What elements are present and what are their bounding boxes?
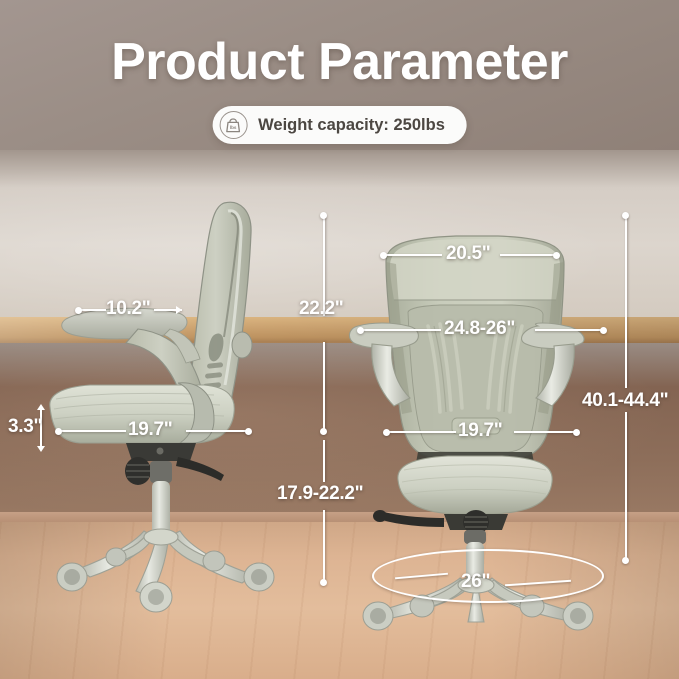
dim-overall-height-dot-bottom [622,557,629,564]
weight-capacity-label: Weight capacity: 250lbs [258,116,445,135]
dim-overall-height-line-upper [625,216,627,388]
svg-text:lbs: lbs [230,125,237,130]
left-chair-side-view [28,195,328,615]
dim-overall-height-line-lower [625,412,627,560]
dim-seat-height-line-lower [323,510,325,582]
dim-overall-height-label: 40.1-44.4" [582,390,668,412]
dim-backrest-height-label: 22.2" [299,298,344,320]
dim-armrest-depth-dot-left [75,307,82,314]
dim-seat-width-line-right [514,431,576,433]
dim-seat-depth-line-right [186,430,248,432]
dim-armrest-width-line-left [363,329,441,331]
dim-backrest-height-dot-top [320,212,327,219]
dim-seat-depth-dot-right [245,428,252,435]
product-parameter-infographic: Product Parameter lbs Weight capacity: 2… [0,0,679,679]
dim-seat-thickness-label: 3.3" [8,416,42,438]
dim-backrest-width-dot-left [380,252,387,259]
weight-icon: lbs [219,111,247,139]
dim-armrest-width-label: 24.8-26" [444,318,515,340]
dim-seat-depth-line-left [58,430,126,432]
dim-seat-height-range-label: 17.9-22.2" [277,483,363,505]
dim-backrest-height-dot-bottom [320,428,327,435]
dim-seat-thickness-arrow-bottom [37,446,45,452]
dim-seat-width-label: 19.7" [458,420,503,442]
dim-armrest-width-dot-left [357,327,364,334]
dim-base-diameter-label: 26" [461,571,490,593]
dim-armrest-width-line-right [535,329,601,331]
dim-overall-height-dot-top [622,212,629,219]
dim-seat-thickness-arrow-top [37,404,45,410]
dim-seat-depth-label: 19.7" [128,419,173,441]
dim-seat-depth-dot-left [55,428,62,435]
dim-seat-width-dot-right [573,429,580,436]
dim-armrest-depth-arrow [176,306,182,314]
dim-backrest-width-line-left [386,254,442,256]
dim-armrest-width-dot-right [600,327,607,334]
dim-armrest-depth-line-left [78,309,106,311]
dim-armrest-depth-label: 10.2" [106,298,151,320]
page-title: Product Parameter [0,32,679,92]
dim-seat-height-dot-bottom [320,579,327,586]
dim-seat-width-line-left [388,431,456,433]
dim-seat-height-line-upper [323,440,325,482]
dim-backrest-width-line-right [500,254,554,256]
dim-seat-width-dot-left [383,429,390,436]
dim-backrest-width-label: 20.5" [446,243,491,265]
weight-capacity-badge: lbs Weight capacity: 250lbs [212,106,467,144]
dim-backrest-height-line-lower [323,342,325,432]
dim-backrest-width-dot-right [553,252,560,259]
